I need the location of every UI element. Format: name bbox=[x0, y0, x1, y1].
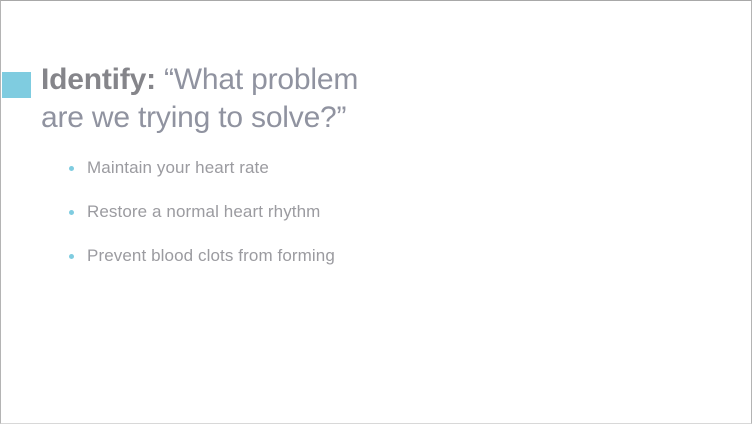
bullet-list: Maintain your heart rate Restore a norma… bbox=[65, 153, 395, 285]
bullet-dot-icon bbox=[69, 210, 74, 215]
accent-square-icon bbox=[2, 72, 31, 98]
list-item-label: Prevent blood clots from forming bbox=[87, 246, 335, 265]
bullet-dot-icon bbox=[69, 254, 74, 259]
page-title: Identify: “What problem are we trying to… bbox=[1, 61, 371, 137]
list-item: Maintain your heart rate bbox=[65, 153, 395, 183]
list-item: Restore a normal heart rhythm bbox=[65, 197, 395, 227]
slide-title-block: Identify: “What problem are we trying to… bbox=[1, 61, 711, 137]
list-item: Prevent blood clots from forming bbox=[65, 241, 395, 271]
title-lead: Identify: bbox=[41, 63, 156, 96]
list-item-label: Restore a normal heart rhythm bbox=[87, 202, 320, 221]
list-item-label: Maintain your heart rate bbox=[87, 158, 269, 177]
slide-canvas: Identify: “What problem are we trying to… bbox=[0, 0, 752, 424]
bullet-dot-icon bbox=[69, 166, 74, 171]
